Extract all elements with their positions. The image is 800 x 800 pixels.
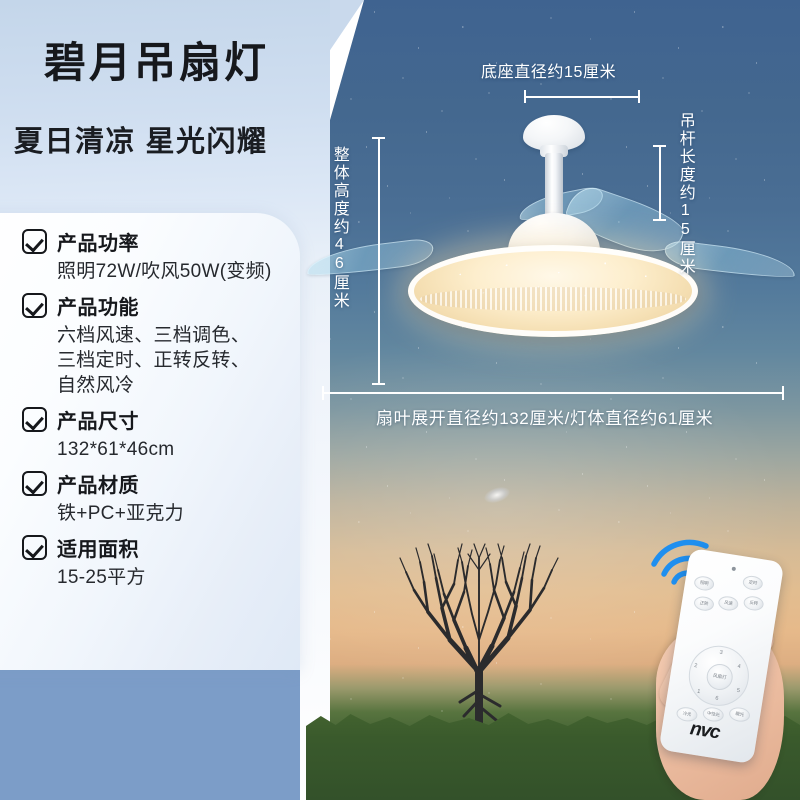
dimension-cap (653, 219, 666, 221)
remote-speed-2: 2 (694, 663, 698, 669)
dimension-line (524, 96, 640, 98)
remote-speed-4: 4 (737, 664, 741, 670)
ceiling-fan-lamp-product (330, 95, 800, 370)
spec-item-head: 产品功率 (22, 227, 302, 256)
lamp-rim (408, 245, 698, 337)
checkbox-checked-icon (22, 471, 47, 496)
dimension-line (378, 137, 380, 384)
spec-item-head: 产品材质 (22, 469, 302, 498)
bottom-blue-block (0, 668, 300, 800)
remote-button-reverse[interactable]: 反转 (743, 595, 765, 612)
dimension-cap (372, 383, 385, 385)
bare-tree-silhouette (380, 520, 580, 735)
dimension-cap (372, 137, 385, 139)
dimension-cap (653, 145, 666, 147)
spec-item-label: 适用面积 (57, 533, 139, 562)
remote-button-lighting[interactable]: 照明 (693, 575, 715, 592)
spec-item-value: 六档风速、三档调色、三档定时、正转反转、自然风冷 (57, 323, 302, 398)
dimension-downrod-length-label: 吊杆长度约15厘米 (676, 112, 693, 276)
remote-control-group: 照明 定时 正转 风速 反转 3 4 5 6 1 2 风扇灯 冷光 中性光 暖光… (630, 530, 800, 800)
remote-button-forward[interactable]: 正转 (693, 595, 715, 612)
remote-button-timer[interactable]: 定时 (742, 575, 764, 592)
remote-speed-dial[interactable]: 3 4 5 6 1 2 风扇灯 (685, 642, 754, 711)
downrod (545, 153, 563, 221)
page-subtitle: 夏日清凉 星光闪耀 (14, 128, 268, 157)
remote-button-windspeed[interactable]: 风速 (717, 595, 739, 612)
checkbox-checked-icon (22, 229, 47, 254)
spec-item-label: 产品功能 (57, 291, 139, 320)
spec-item-head: 适用面积 (22, 533, 302, 562)
remote-speed-6: 6 (715, 696, 719, 702)
spec-item: 产品功率照明72W/吹风50W(变频) (22, 227, 302, 284)
header-block: 碧月吊扇灯 夏日清凉 星光闪耀 (0, 0, 330, 215)
remote-led-indicator (731, 567, 736, 572)
dimension-cap (322, 386, 324, 400)
spec-item: 产品材质铁+PC+亚克力 (22, 469, 302, 526)
spec-item-value: 15-25平方 (57, 565, 302, 590)
spec-item-value: 132*61*46cm (57, 437, 302, 462)
checkbox-checked-icon (22, 535, 47, 560)
spec-item-value: 照明72W/吹风50W(变频) (57, 259, 302, 284)
remote-button-warm-light[interactable]: 暖光 (728, 706, 751, 723)
dimension-fan-span-label: 扇叶展开直径约132厘米/灯体直径约61厘米 (376, 404, 713, 429)
remote-dial-center-button[interactable]: 风扇灯 (705, 662, 735, 692)
spec-item-label: 产品功率 (57, 227, 139, 256)
spec-item-head: 产品尺寸 (22, 405, 302, 434)
spec-item: 产品尺寸132*61*46cm (22, 405, 302, 462)
remote-speed-5: 5 (736, 688, 740, 694)
spec-item-value: 铁+PC+亚克力 (57, 501, 302, 526)
checkbox-checked-icon (22, 407, 47, 432)
spec-item-label: 产品尺寸 (57, 405, 139, 434)
spec-panel: 产品功率照明72W/吹风50W(变频)产品功能六档风速、三档调色、三档定时、正转… (0, 213, 300, 670)
spec-list: 产品功率照明72W/吹风50W(变频)产品功能六档风速、三档调色、三档定时、正转… (22, 227, 302, 598)
dimension-overall-height-label: 整体高度约46厘米 (330, 146, 347, 310)
dimension-cap (782, 386, 784, 400)
dimension-line (659, 145, 661, 220)
dimension-cap (638, 90, 640, 103)
product-marketing-image: 底座直径约15厘米 整体高度约46厘米 吊杆长度约15厘米 扇叶展开直径约132… (0, 0, 800, 800)
brand-logo-remote: nvc (688, 718, 720, 744)
dimension-base-diameter-label: 底座直径约15厘米 (481, 58, 616, 82)
spec-item: 产品功能六档风速、三档调色、三档定时、正转反转、自然风冷 (22, 291, 302, 398)
dimension-cap (524, 90, 526, 103)
spec-item-head: 产品功能 (22, 291, 302, 320)
spec-item: 适用面积15-25平方 (22, 533, 302, 590)
lamp-body (408, 245, 698, 337)
spec-item-label: 产品材质 (57, 469, 139, 498)
dimension-line (322, 392, 784, 394)
remote-speed-3: 3 (719, 650, 723, 656)
checkbox-checked-icon (22, 293, 47, 318)
remote-speed-1: 1 (697, 689, 701, 695)
page-title: 碧月吊扇灯 (44, 42, 269, 84)
